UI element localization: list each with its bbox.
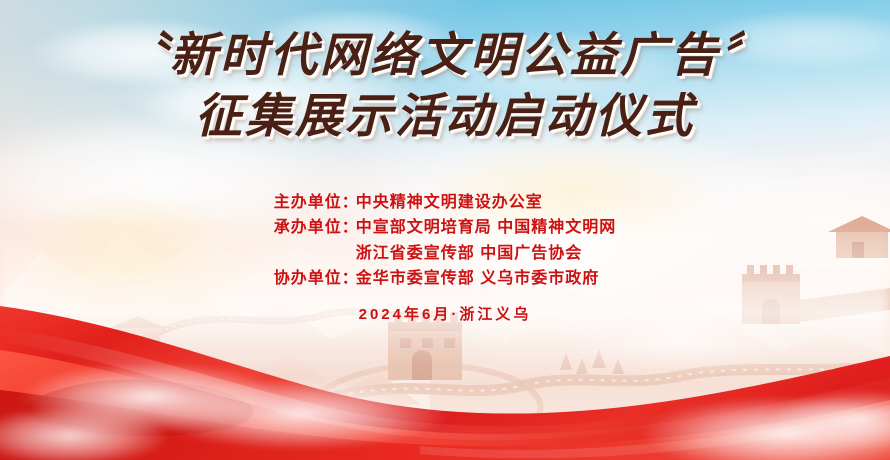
red-ribbon [0,270,890,460]
pavilion-right [828,216,890,258]
poster-canvas: 〝新时代网络文明公益广告〞 征集展示活动启动仪式 主办单位： 中央精神文明建设办… [0,0,890,460]
cloud-shape [420,30,680,100]
